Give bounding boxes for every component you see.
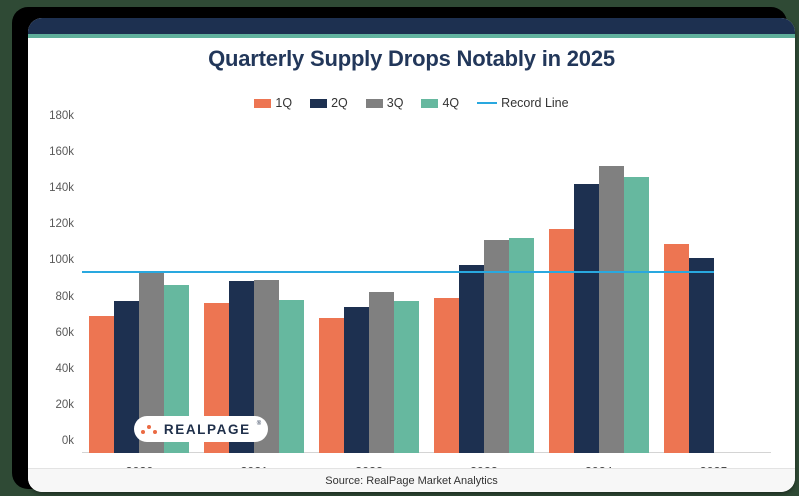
y-axis-tick-label: 100k xyxy=(49,254,74,266)
legend-swatch-icon xyxy=(366,99,383,108)
bar-2022-2q[interactable] xyxy=(344,307,369,453)
bar-group-2025: 2025 xyxy=(656,128,771,453)
chart-card: Quarterly Supply Drops Notably in 2025 1… xyxy=(28,18,795,492)
legend-swatch-icon xyxy=(254,99,271,108)
y-axis-tick-label: 140k xyxy=(49,182,74,194)
legend-swatch-icon xyxy=(310,99,327,108)
bar-2024-3q[interactable] xyxy=(599,166,624,453)
source-note: Source: RealPage Market Analytics xyxy=(325,475,497,487)
y-axis-tick-label: 120k xyxy=(49,218,74,230)
legend-label: 3Q xyxy=(387,96,404,110)
legend-item-4q[interactable]: 4Q xyxy=(421,96,459,110)
bar-2020-1q[interactable] xyxy=(89,316,114,453)
plot-area: 202020212022202320242025 0k20k40k60k80k1… xyxy=(82,128,771,453)
y-axis-tick-label: 40k xyxy=(55,363,74,375)
bar-groups: 202020212022202320242025 xyxy=(82,128,771,453)
chart-title: Quarterly Supply Drops Notably in 2025 xyxy=(28,46,795,72)
bar-group-2022: 2022 xyxy=(312,128,427,453)
realpage-trademark: ® xyxy=(257,421,261,427)
legend-label: 4Q xyxy=(442,96,459,110)
bar-group-2020: 2020 xyxy=(82,128,197,453)
bar-2023-2q[interactable] xyxy=(459,265,484,453)
bar-2022-1q[interactable] xyxy=(319,318,344,453)
legend-label: 2Q xyxy=(331,96,348,110)
legend-item-3q[interactable]: 3Q xyxy=(366,96,404,110)
bar-group-2023: 2023 xyxy=(426,128,541,453)
y-axis-tick-label: 160k xyxy=(49,146,74,158)
bar-2024-1q[interactable] xyxy=(549,229,574,453)
footer-bar: Source: RealPage Market Analytics xyxy=(28,468,795,492)
legend-line-icon xyxy=(477,102,497,104)
bar-2024-4q[interactable] xyxy=(624,177,649,453)
legend-swatch-icon xyxy=(421,99,438,108)
bar-2024-2q[interactable] xyxy=(574,184,599,453)
bar-group-2021: 2021 xyxy=(197,128,312,453)
chart-legend: 1Q2Q3Q4QRecord Line xyxy=(28,96,795,110)
legend-item-2q[interactable]: 2Q xyxy=(310,96,348,110)
bar-2021-4q[interactable] xyxy=(279,300,304,453)
header-accent-stripe xyxy=(28,34,795,38)
bar-group-2024: 2024 xyxy=(541,128,656,453)
legend-label: 1Q xyxy=(275,96,292,110)
page-frame: Quarterly Supply Drops Notably in 2025 1… xyxy=(12,7,787,489)
y-axis-tick-label: 80k xyxy=(55,291,74,303)
realpage-logo: REALPAGE ® xyxy=(134,416,268,442)
bar-2022-4q[interactable] xyxy=(394,301,419,453)
bar-2025-1q[interactable] xyxy=(664,244,689,453)
bar-2022-3q[interactable] xyxy=(369,292,394,453)
realpage-logo-text: REALPAGE xyxy=(164,422,251,437)
record-line xyxy=(82,271,714,273)
y-axis-tick-label: 0k xyxy=(62,435,74,447)
legend-item-1q[interactable]: 1Q xyxy=(254,96,292,110)
legend-item-record-line[interactable]: Record Line xyxy=(477,96,568,110)
header-bar xyxy=(28,18,795,34)
legend-label: Record Line xyxy=(501,96,568,110)
bar-2025-2q[interactable] xyxy=(689,258,714,453)
y-axis-tick-label: 180k xyxy=(49,110,74,122)
y-axis-tick-label: 60k xyxy=(55,327,74,339)
y-axis-tick-label: 20k xyxy=(55,399,74,411)
realpage-dots-icon xyxy=(141,422,158,437)
bar-2023-1q[interactable] xyxy=(434,298,459,453)
bar-2023-4q[interactable] xyxy=(509,238,534,453)
